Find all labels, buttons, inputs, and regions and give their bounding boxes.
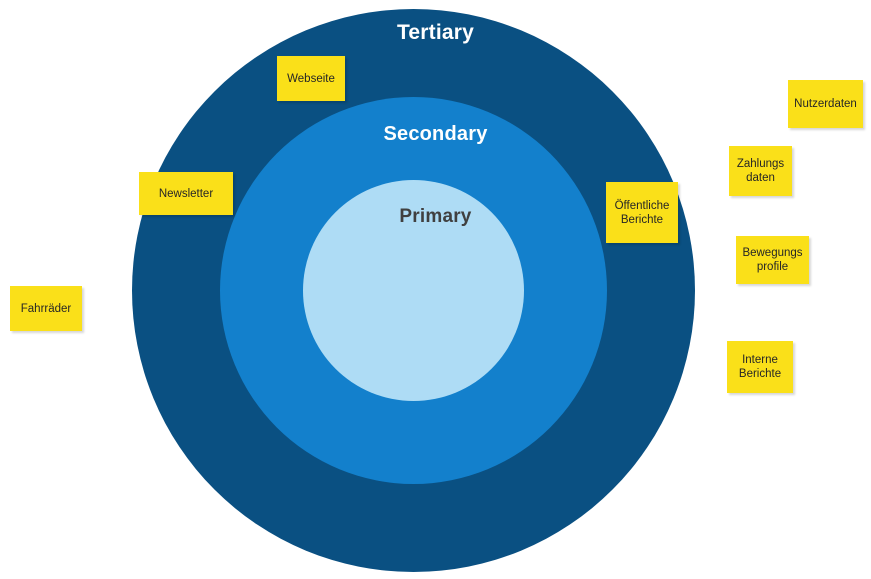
sticky-note-fahrraeder[interactable]: Fahrräder <box>10 286 82 331</box>
sticky-note-newsletter[interactable]: Newsletter <box>139 172 233 215</box>
ring-label-secondary: Secondary <box>0 123 871 146</box>
sticky-note-interne-berichte[interactable]: Interne Berichte <box>727 341 793 393</box>
ring-label-primary: Primary <box>0 206 871 228</box>
sticky-note-webseite[interactable]: Webseite <box>277 56 345 101</box>
sticky-note-bewegungsprofile[interactable]: Bewegungs profile <box>736 236 809 284</box>
diagram-canvas: Tertiary Secondary Primary WebseiteNewsl… <box>0 0 871 579</box>
sticky-note-zahlungsdaten[interactable]: Zahlungs daten <box>729 146 792 196</box>
ring-label-tertiary: Tertiary <box>0 21 871 45</box>
sticky-note-nutzerdaten[interactable]: Nutzerdaten <box>788 80 863 128</box>
sticky-note-oeffentliche-berichte[interactable]: Öffentliche Berichte <box>606 182 678 243</box>
